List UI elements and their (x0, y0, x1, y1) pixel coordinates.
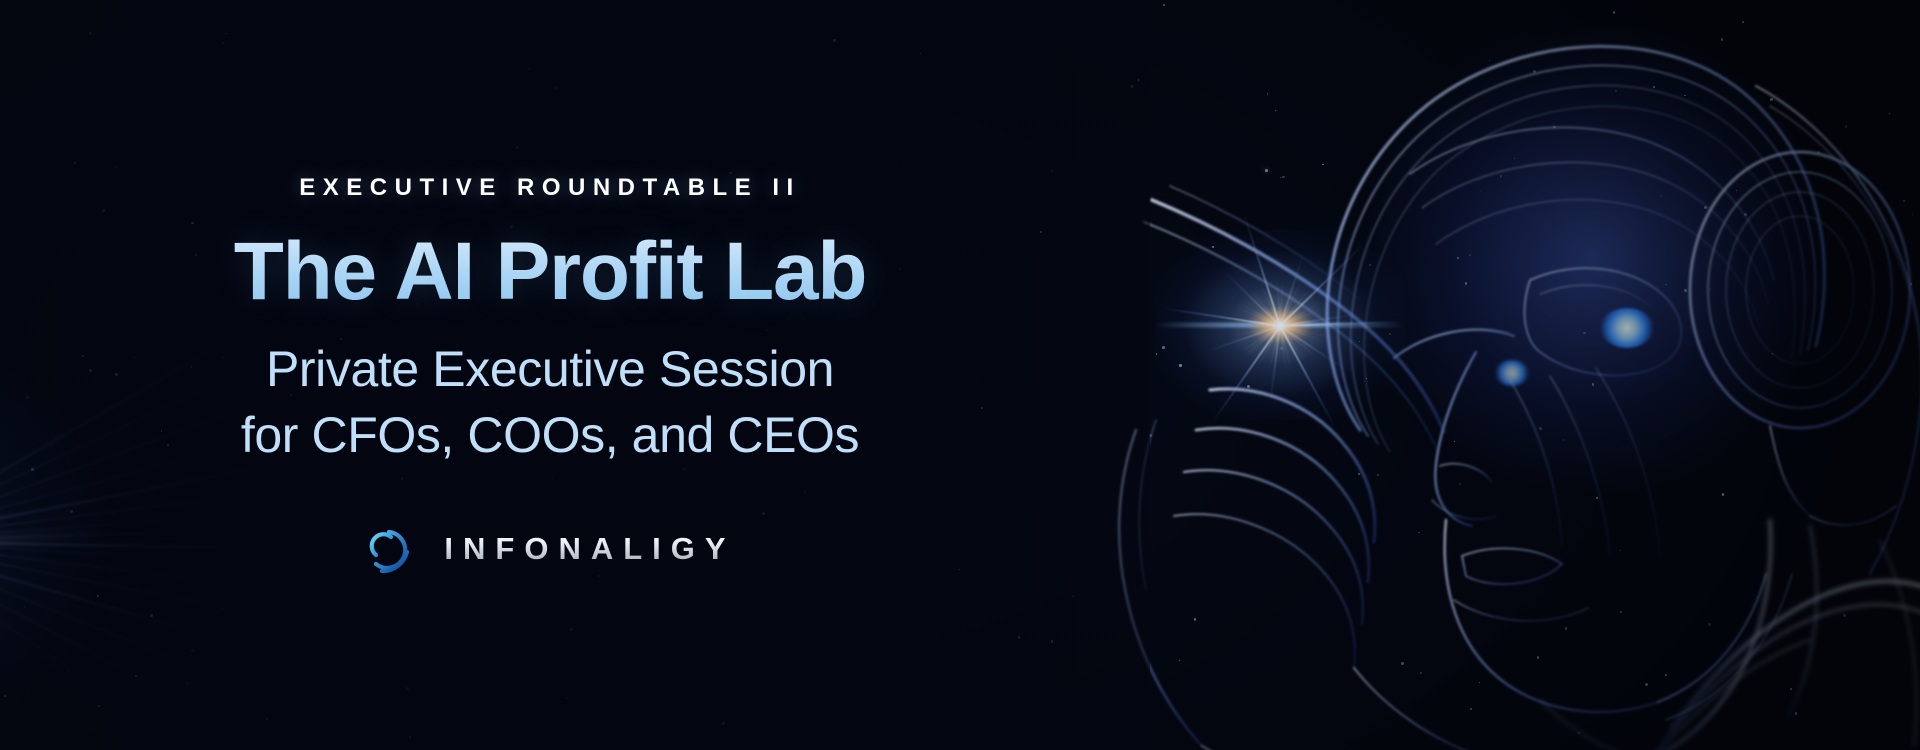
hero-content: EXECUTIVE ROUNDTABLE II The AI Profit La… (0, 0, 1100, 750)
infonaligy-arc-mark-icon (364, 522, 418, 576)
brand-wordmark: INFONALIGY (442, 531, 735, 567)
brand-logo[interactable]: INFONALIGY (364, 522, 735, 576)
eyebrow-label: EXECUTIVE ROUNDTABLE II (299, 174, 800, 202)
page-title: The AI Profit Lab (234, 230, 867, 314)
hero-banner: EXECUTIVE ROUNDTABLE II The AI Profit La… (0, 0, 1920, 750)
subtitle-line-1: Private Executive Session (266, 336, 834, 402)
subtitle-line-2: for CFOs, COOs, and CEOs (241, 402, 859, 468)
